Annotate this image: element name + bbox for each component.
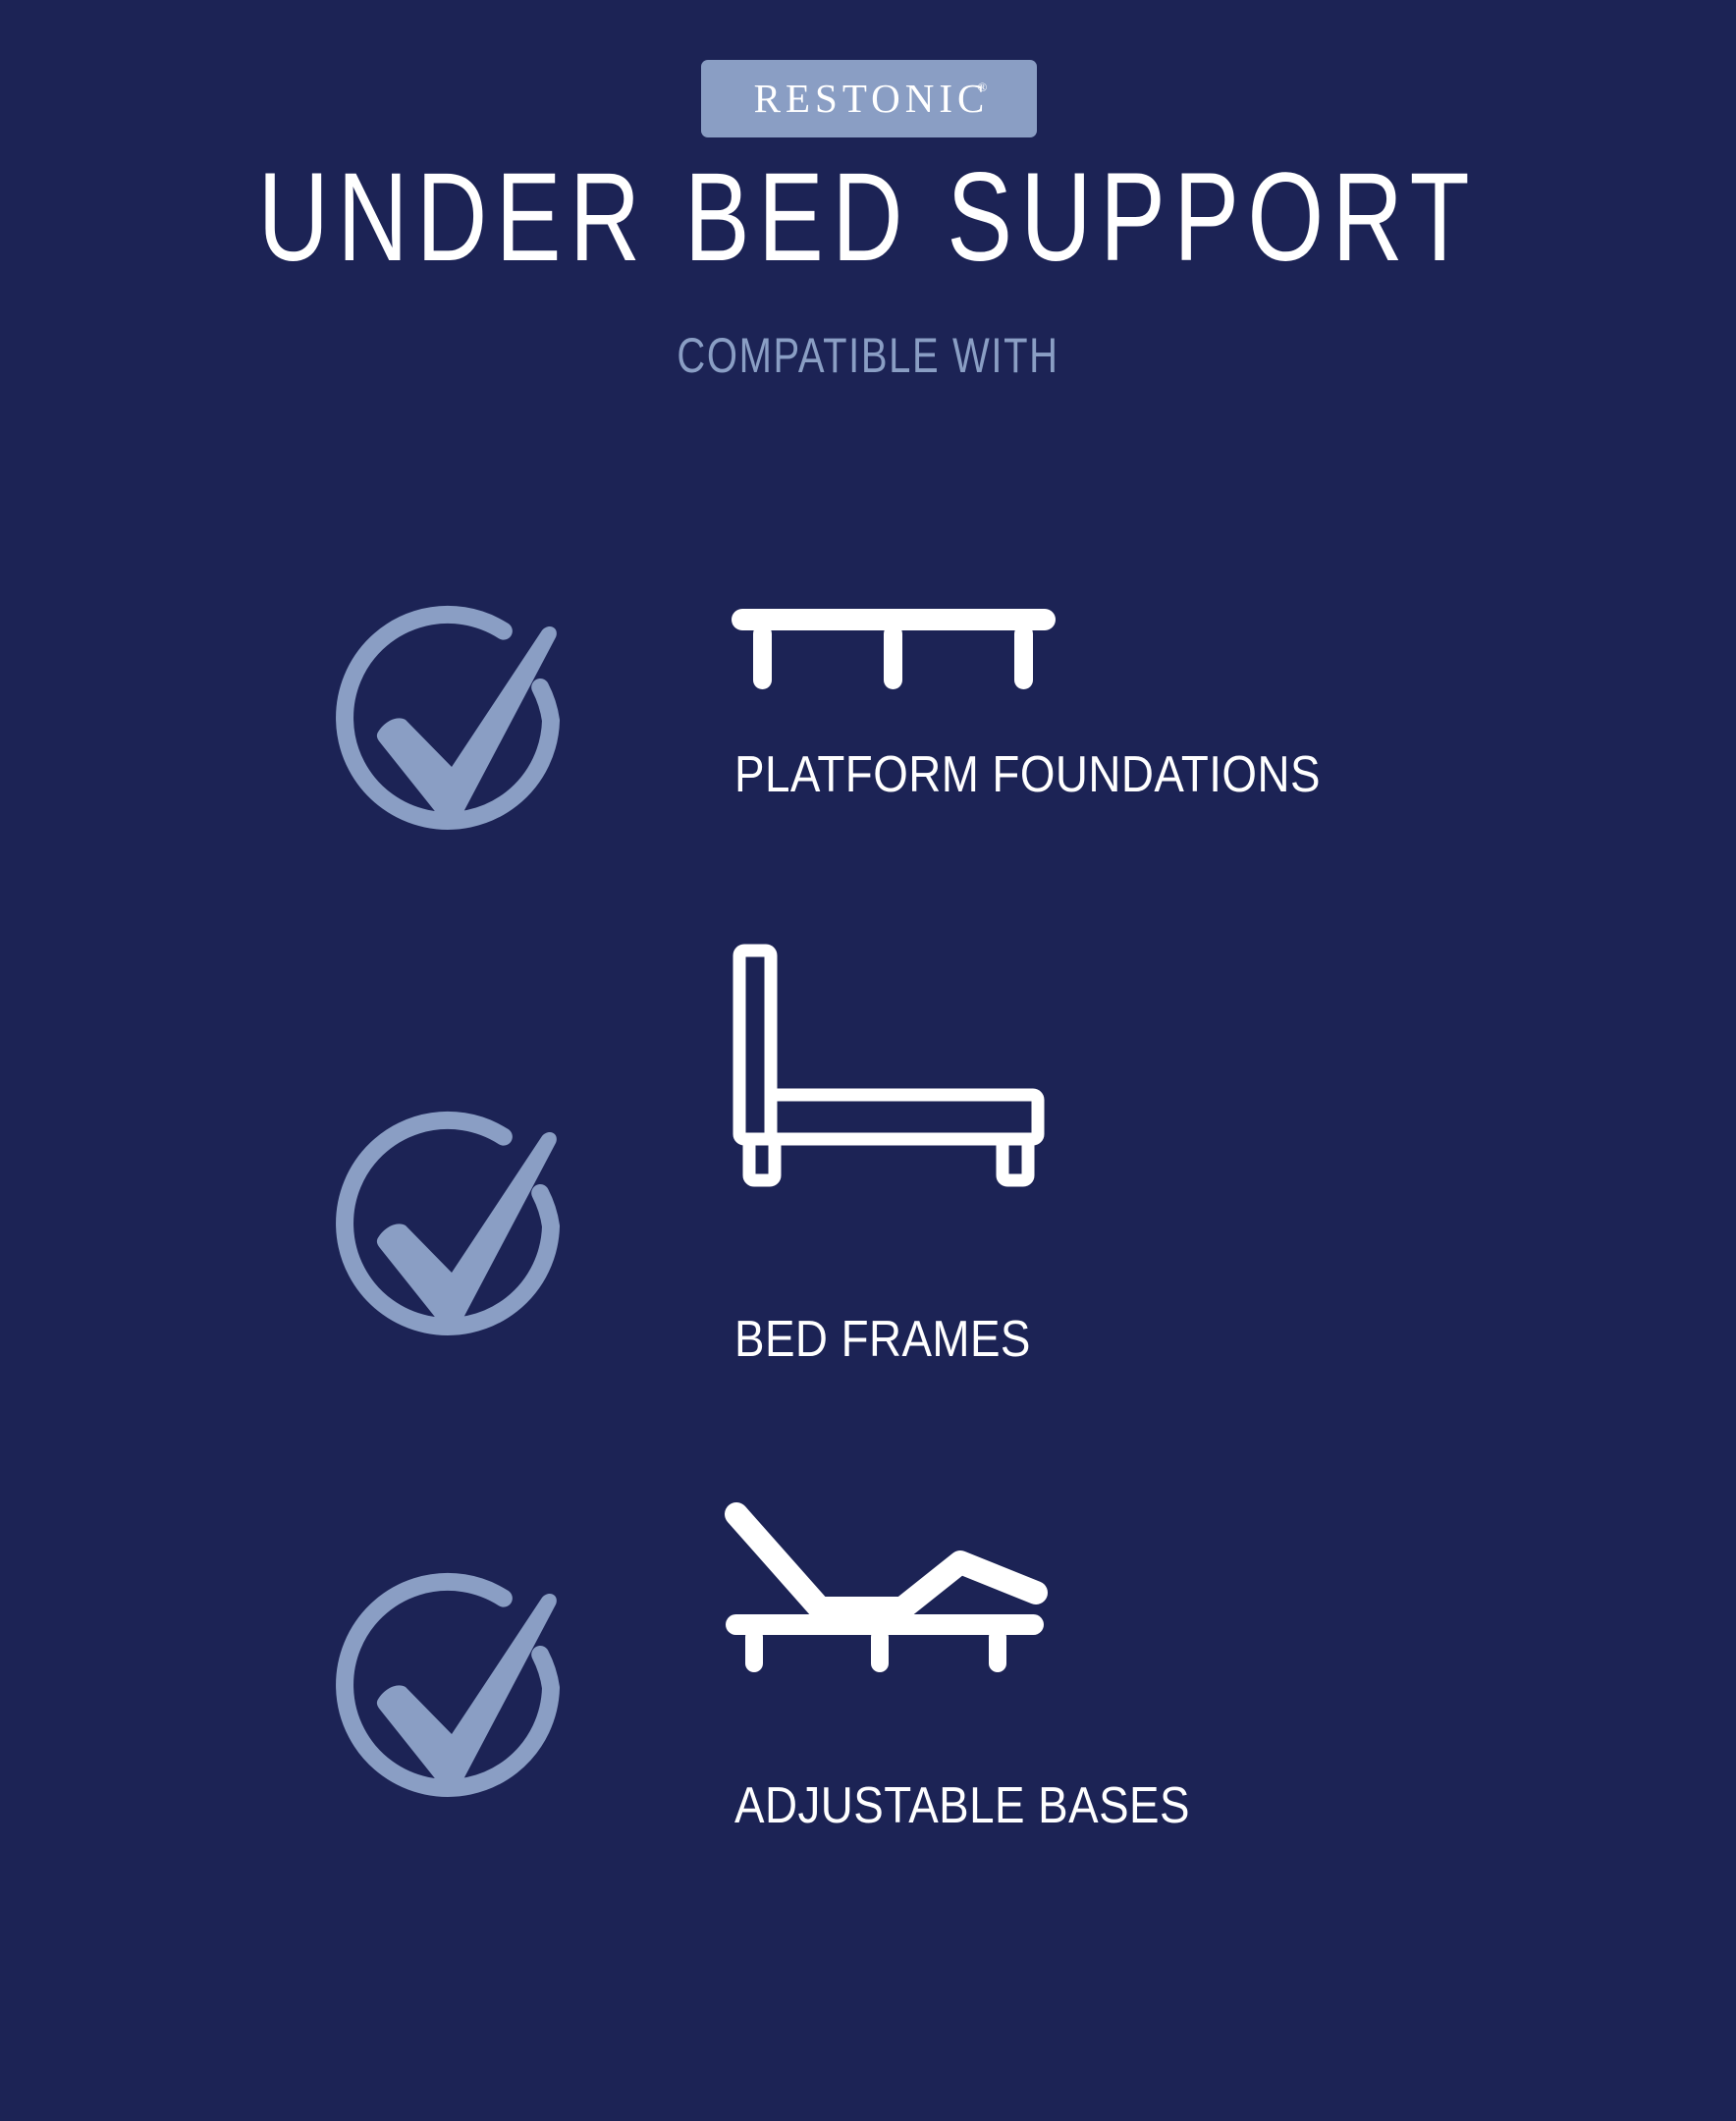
check-circle-icon: [324, 604, 579, 859]
bed-frame-icon: [732, 943, 1046, 1188]
infographic-page: RESTONIC® UNDER BED SUPPORT COMPATIBLE W…: [0, 0, 1736, 2121]
item-label-platform-foundations: PLATFORM FOUNDATIONS: [734, 746, 1321, 803]
page-subtitle: COMPATIBLE WITH: [174, 328, 1562, 383]
page-title: UNDER BED SUPPORT: [190, 149, 1545, 287]
item-label-bed-frames: BED FRAMES: [734, 1311, 1031, 1368]
adjustable-base-icon: [722, 1502, 1056, 1674]
platform-foundation-icon: [732, 609, 1056, 727]
brand-name: RESTONIC®: [749, 79, 990, 119]
trademark-symbol: ®: [977, 81, 992, 93]
restonic-logo-badge: RESTONIC®: [701, 60, 1037, 137]
check-circle-icon: [324, 1110, 579, 1365]
brand-name-text: RESTONIC: [754, 76, 990, 121]
item-label-adjustable-bases: ADJUSTABLE BASES: [734, 1777, 1190, 1834]
check-circle-icon: [324, 1571, 579, 1826]
